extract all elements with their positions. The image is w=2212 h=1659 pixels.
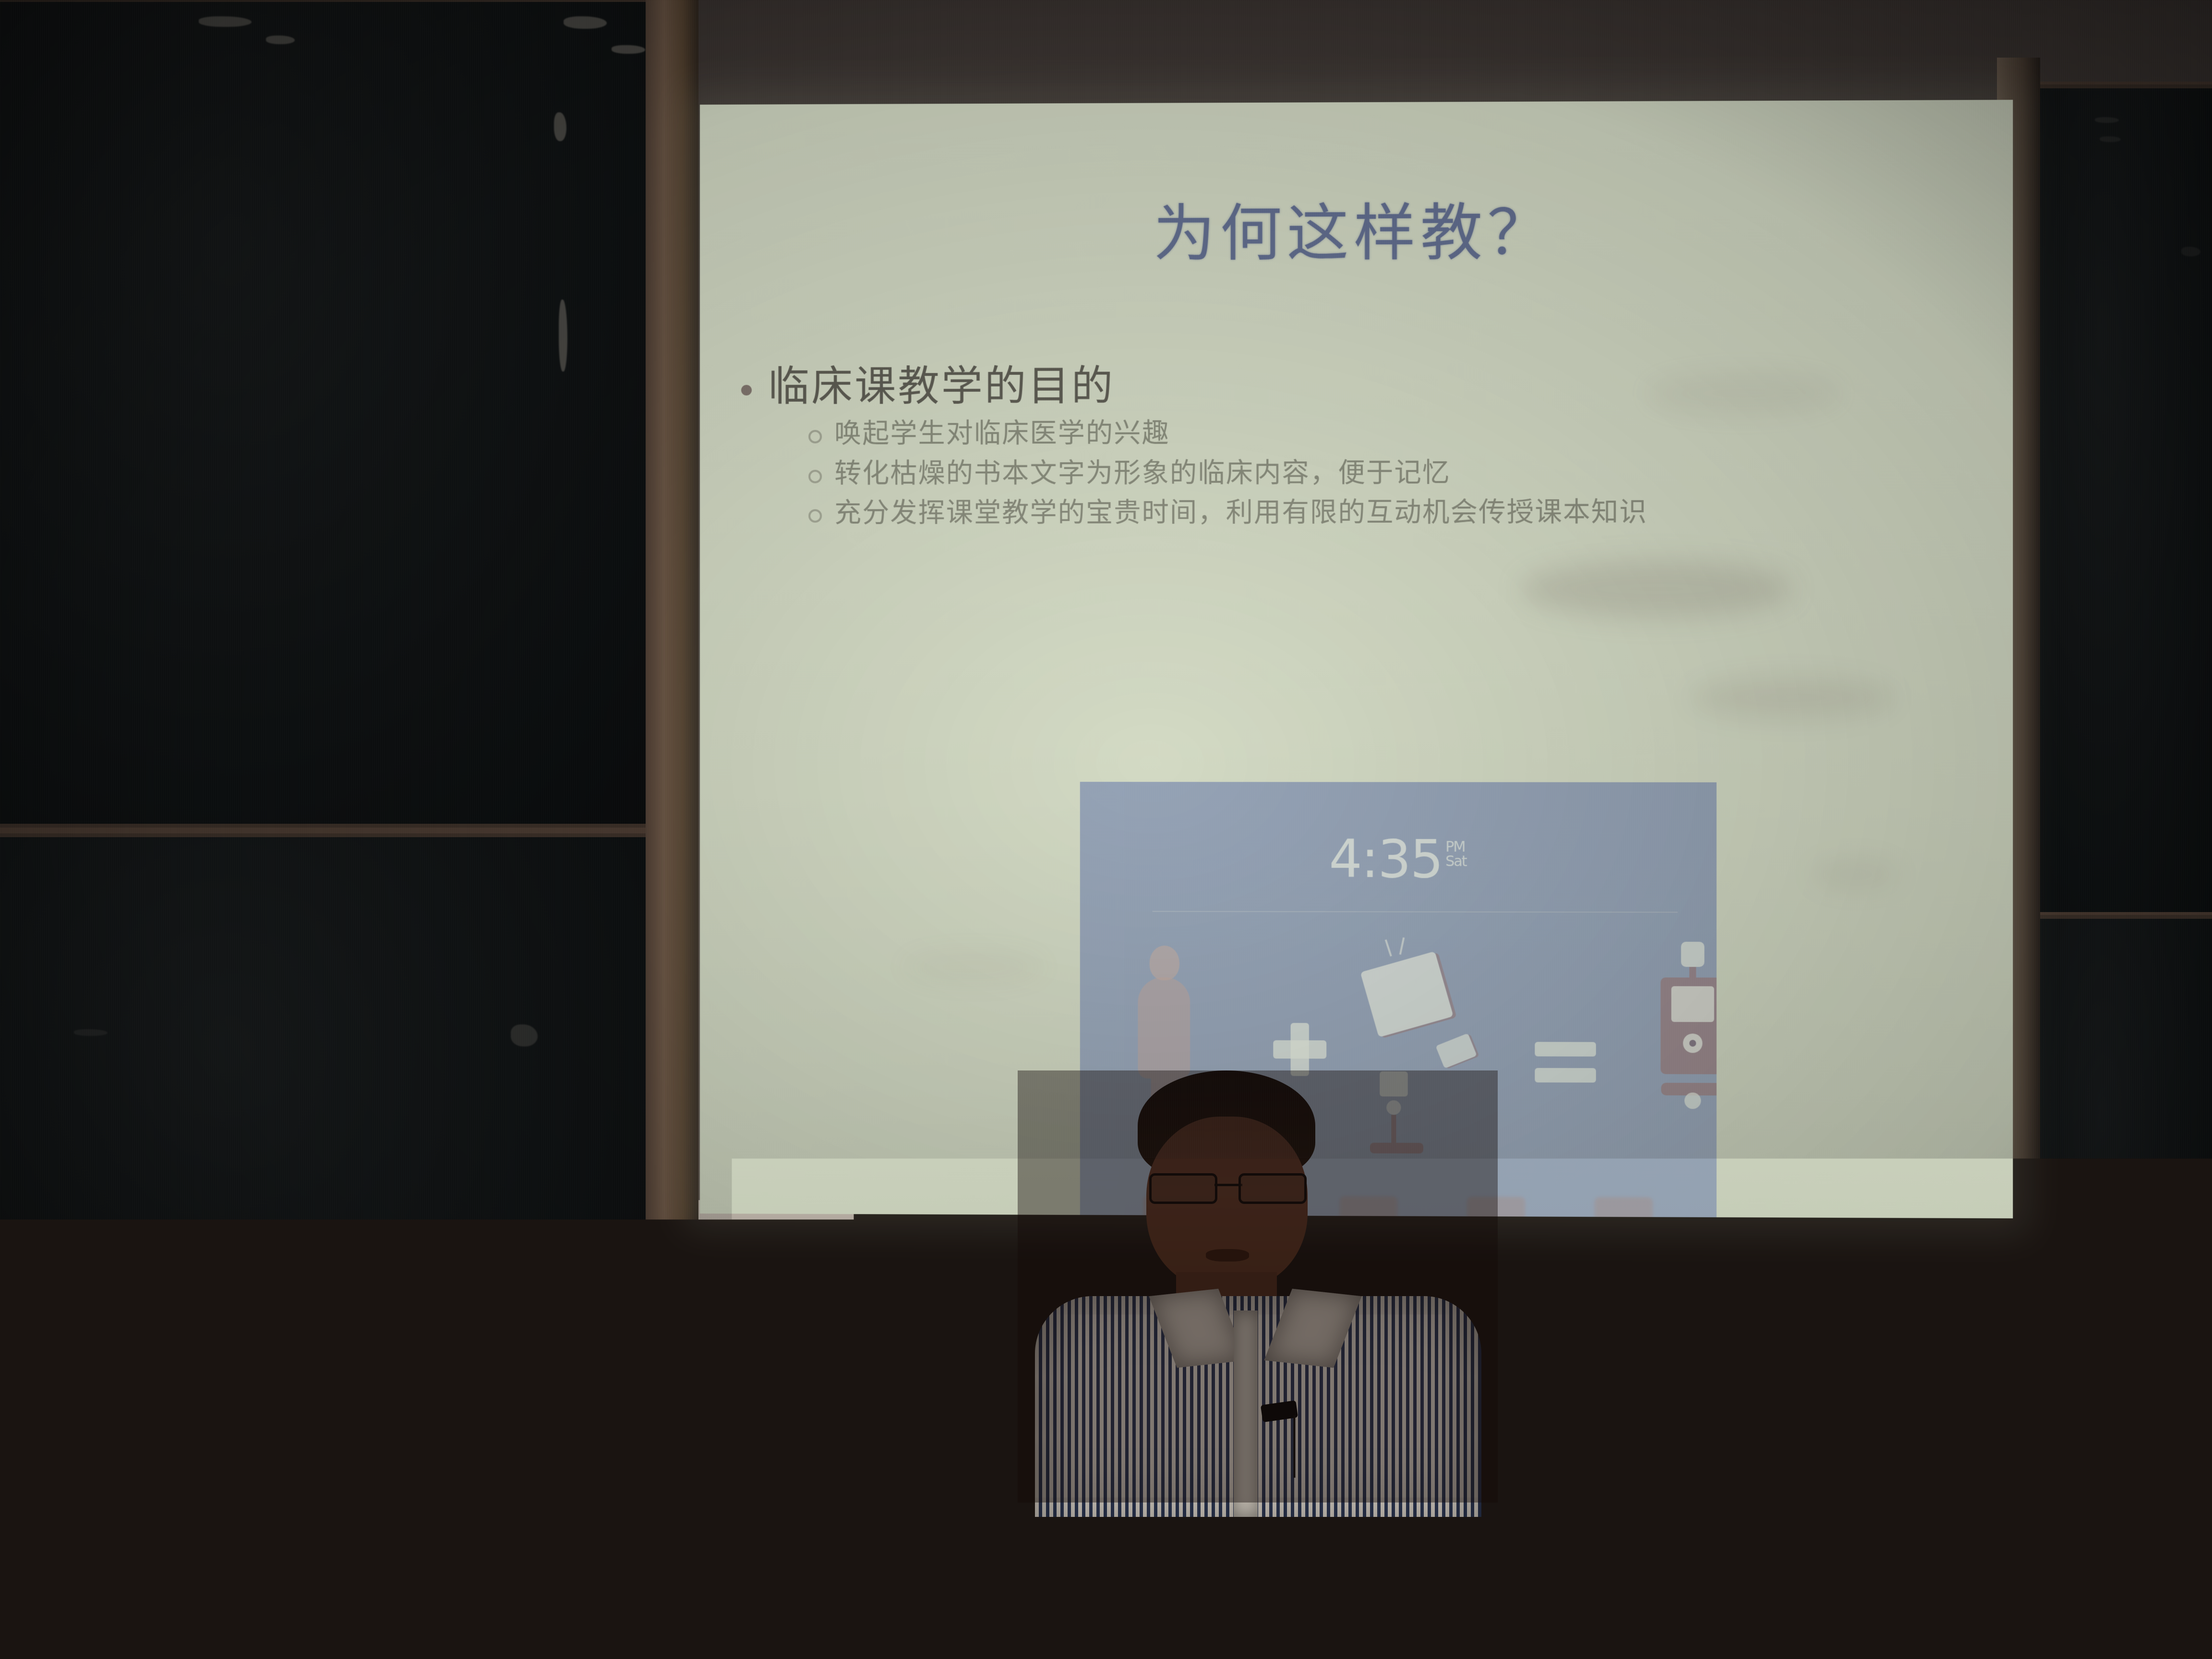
- blackboard-right-bottom: [2031, 912, 2212, 1584]
- podium: [763, 1481, 1805, 1659]
- blackboard-surface: [2037, 88, 2212, 920]
- bullet-level1-text: 临床课教学的目的: [768, 363, 1115, 410]
- bullet-circle-icon: [808, 430, 822, 444]
- blackboard-surface: [0, 2, 656, 824]
- bullet-circle-icon: [808, 509, 822, 523]
- lecture-hall-photo: 为何这样教？ 临床课教学的目的 唤起学生对临床医学的兴趣 转化枯燥的书本文字为形…: [0, 0, 2212, 1659]
- blackboard-surface: [2037, 919, 2212, 1577]
- bullet-level2: 充分发挥课堂教学的宝贵时间，利用有限的互动机会传授课本知识: [808, 495, 1984, 529]
- bullet-dot-icon: [741, 385, 752, 396]
- camera-date-stamp: 2014/5/6: [1821, 1390, 2168, 1471]
- embedded-clock: 4:35PMSat: [1080, 829, 1717, 890]
- sub-bullet-list: 唤起学生对临床医学的兴趣 转化枯燥的书本文字为形象的临床内容，便于记忆 充分发挥…: [808, 416, 1984, 529]
- equals-icon: [1535, 1042, 1596, 1085]
- bullet-level2-text: 转化枯燥的书本文字为形象的临床内容，便于记忆: [834, 457, 1450, 490]
- slide-title: 为何这样教？: [700, 181, 2013, 274]
- bullet-level2: 转化枯燥的书本文字为形象的临床内容，便于记忆: [808, 456, 1984, 490]
- bullet-level2-text: 唤起学生对临床医学的兴趣: [834, 417, 1170, 450]
- blackboard-left-bottom: [0, 830, 662, 1551]
- podium-top-surface: [763, 1481, 1805, 1497]
- podium-right-edge: [1767, 1492, 1805, 1659]
- plus-icon: [1273, 1023, 1326, 1076]
- podium-side-panel: [717, 1501, 775, 1659]
- blackboard-right-top: [2031, 82, 2212, 926]
- embedded-clock-time: 4:35: [1329, 829, 1443, 890]
- blackboard-surface: [0, 837, 656, 1544]
- projection-screen: 为何这样教？ 临床课教学的目的 唤起学生对临床医学的兴趣 转化枯燥的书本文字为形…: [700, 100, 2013, 1218]
- speaker-mouth: [1206, 1249, 1249, 1262]
- embedded-bottom-icon: [1594, 1197, 1652, 1218]
- embedded-divider: [1153, 911, 1678, 913]
- speaker-figure: [1018, 1070, 1498, 1503]
- blackboard-left-top: [0, 0, 662, 830]
- podium-front-panel: [770, 1495, 1773, 1659]
- glasses-icon: [1146, 1173, 1310, 1200]
- blackboard-frame-divider-left: [646, 0, 698, 1659]
- robot-icon: [1656, 942, 1717, 1164]
- bullet-circle-icon: [808, 469, 822, 483]
- bullet-level2: 唤起学生对临床医学的兴趣: [808, 416, 1984, 450]
- embedded-clock-suffix: PMSat: [1445, 840, 1467, 869]
- bullet-level2-text: 充分发挥课堂教学的宝贵时间，利用有限的互动机会传授课本知识: [834, 496, 1647, 529]
- bullet-level1: 临床课教学的目的: [741, 361, 1984, 410]
- slide-body: 临床课教学的目的 唤起学生对临床医学的兴趣 转化枯燥的书本文字为形象的临床内容，…: [741, 361, 1984, 536]
